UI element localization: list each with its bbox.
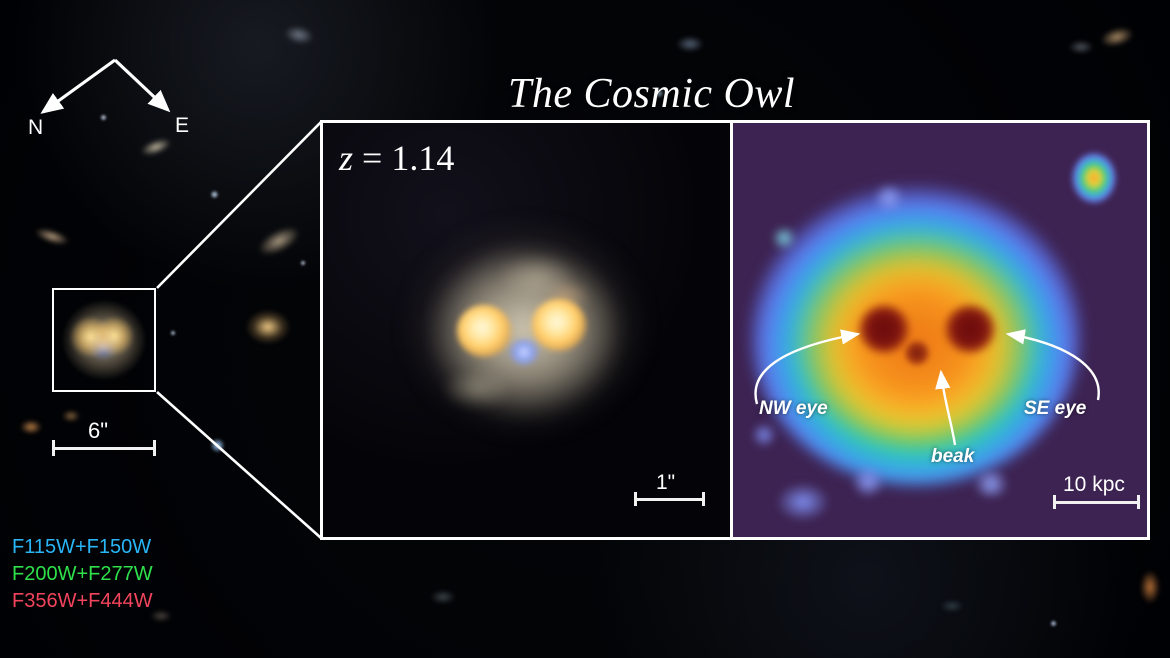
owl-beak-optical (509, 339, 539, 365)
zoom-nircam-colour-panel: z = 1.14 1" (323, 123, 733, 537)
scalebar-1arcsec-cap-left (634, 492, 637, 506)
emission-speck (873, 185, 905, 211)
scalebar-1arcsec-line (634, 498, 704, 501)
scalebar-6arcsec-line (52, 447, 156, 450)
background-star (170, 330, 176, 336)
emission-speck (777, 483, 829, 521)
emission-map-panel: 10 kpc (733, 123, 1147, 537)
redshift-equals: = (353, 138, 391, 178)
figure-title: The Cosmic Owl (508, 70, 795, 118)
compass-label-north: N (28, 116, 44, 140)
scalebar-10kpc-cap-left (1053, 495, 1056, 509)
filter-legend: F115W+F150W F200W+F277W F356W+F444W (12, 534, 153, 615)
filter-legend-line-blue: F115W+F150W (12, 534, 153, 561)
owl-wisp-left (441, 369, 511, 409)
scalebar-1arcsec-cap-right (702, 492, 705, 506)
background-star (300, 260, 306, 266)
emission-speck (971, 471, 1011, 497)
background-star (1050, 620, 1057, 627)
scalebar-10kpc-cap-right (1137, 495, 1140, 509)
scalebar-10kpc-label: 10 kpc (1063, 473, 1125, 497)
zoom-region-box (52, 288, 156, 392)
scalebar-6arcsec-cap-right (153, 440, 156, 456)
emission-speck (851, 467, 885, 497)
emission-map-core (797, 231, 1035, 445)
background-star (210, 438, 225, 453)
scalebar-6arcsec-label: 6" (88, 418, 108, 444)
annotation-beak: beak (931, 446, 974, 468)
emission-beak (905, 341, 929, 365)
owl-eye-nw-optical (457, 305, 511, 357)
scalebar-10kpc-line (1053, 501, 1139, 504)
background-star (210, 190, 219, 199)
emission-speck (751, 423, 777, 447)
background-star (100, 114, 107, 121)
annotation-se-eye: SE eye (1024, 398, 1086, 420)
inset-panel-frame: z = 1.14 1" 10 kpc (320, 120, 1150, 540)
emission-speck (771, 227, 797, 249)
redshift-value: 1.14 (391, 138, 454, 178)
annotation-nw-eye: NW eye (759, 398, 828, 420)
compass-label-east: E (175, 114, 190, 138)
emission-eye-se (945, 305, 995, 353)
owl-eye-se-optical (532, 299, 586, 351)
filter-legend-line-red: F356W+F444W (12, 588, 153, 615)
redshift-symbol: z (339, 138, 353, 178)
emission-companion-source (1065, 141, 1123, 215)
scalebar-1arcsec-label: 1" (656, 471, 675, 495)
filter-legend-line-green: F200W+F277W (12, 561, 153, 588)
cosmic-owl-figure: N E 6" The Cosmic Owl z = 1.14 (0, 0, 1170, 658)
emission-eye-nw (859, 305, 909, 353)
redshift-label: z = 1.14 (339, 137, 454, 179)
scalebar-6arcsec-cap-left (52, 440, 55, 456)
